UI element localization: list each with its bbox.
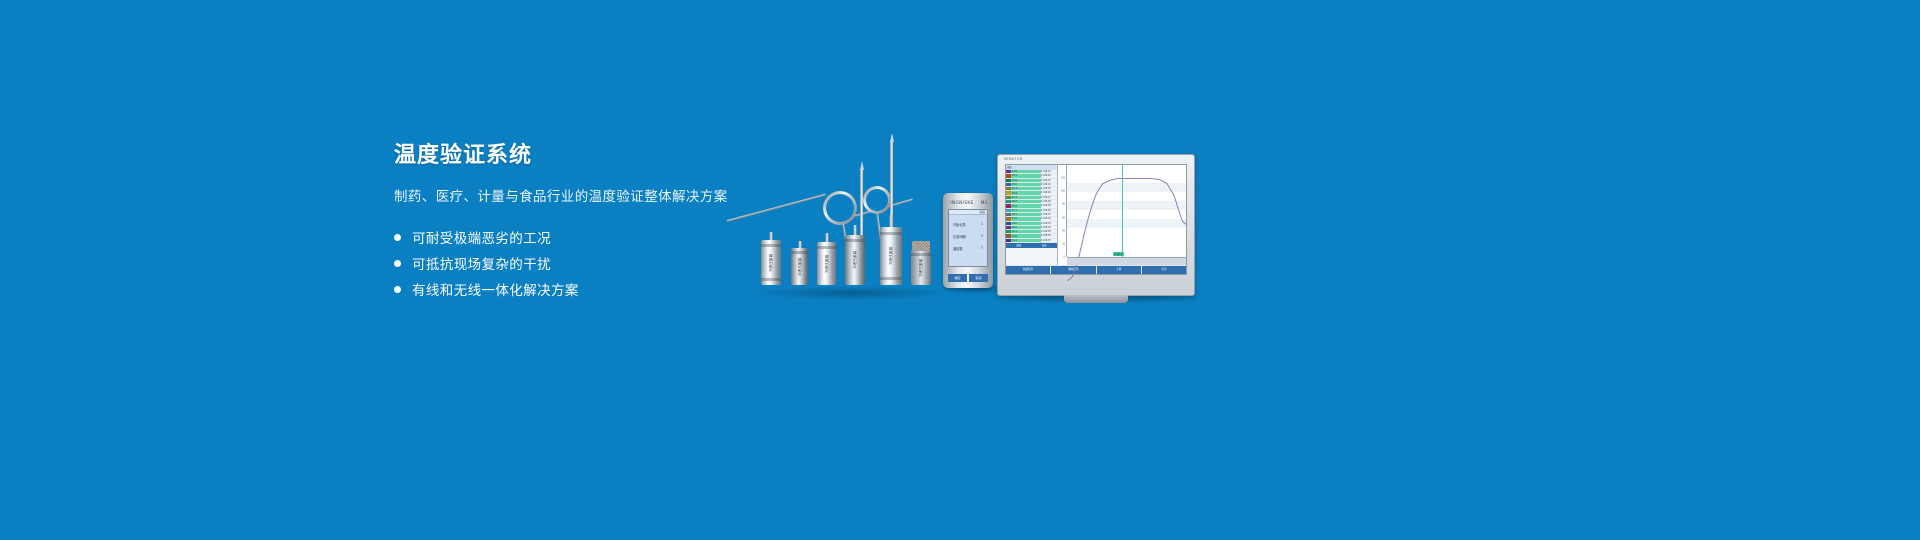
reader-cancel-button[interactable]: 取消: [969, 274, 988, 282]
reader-button-bar: 确定 取消: [948, 274, 988, 282]
monitor-stand: [1064, 295, 1128, 303]
channel-value: 25.0: [1011, 183, 1041, 186]
logger-band: [845, 239, 865, 242]
channel-table-body: 23.811:06:2124.111:06:2224.611:06:2325.0…: [1006, 170, 1057, 243]
reader-row: 开始记录 1: [949, 222, 987, 227]
logger-body: 数据记录仪: [845, 235, 865, 285]
logger-label: 数据记录仪: [853, 251, 858, 269]
shadow: [753, 286, 953, 300]
channel-value: 25.4: [1011, 187, 1041, 190]
channel-value: 30.6: [1011, 235, 1041, 238]
channel-timestamp: 11:06:23: [1041, 179, 1057, 182]
chart-y-tick: 120: [1061, 177, 1065, 180]
channel-timestamp: 11:06:31: [1041, 213, 1057, 216]
reader-row-label: 开始记录: [953, 222, 966, 227]
channel-value: 29.0: [1011, 222, 1041, 225]
bullet-label: 可抵抗现场复杂的干扰: [412, 253, 551, 273]
channel-footer-col-2: 温度: [1032, 243, 1058, 248]
logger-band: [761, 244, 781, 247]
channel-table[interactable]: 通道 23.811:06:2124.111:06:2224.611:06:232…: [1006, 165, 1058, 265]
chart-y-tick: 40: [1062, 229, 1065, 232]
channel-timestamp: 11:06:21: [1041, 170, 1057, 173]
reader-screen-title: 读取: [949, 210, 987, 215]
logger-band: [791, 251, 808, 254]
chart-y-tick: 80: [1062, 203, 1065, 206]
channel-timestamp: 11:06:34: [1041, 226, 1057, 229]
list-item: 数据记录仪: [761, 240, 781, 285]
reader-row: 通道数 7: [949, 246, 987, 251]
channel-value: 27.7: [1011, 209, 1041, 212]
channel-value: 29.5: [1011, 226, 1041, 229]
channel-timestamp: 11:06:25: [1041, 187, 1057, 190]
chart-plot-area: [1067, 165, 1186, 284]
software-screen: 通道 23.811:06:2124.111:06:2224.611:06:232…: [1005, 164, 1187, 275]
toolbar-new-task-button[interactable]: 新建任务: [1006, 266, 1050, 274]
channel-value: 23.8: [1011, 170, 1041, 173]
logger-band: [911, 253, 931, 256]
channel-timestamp: 11:06:35: [1041, 230, 1057, 233]
logger-stem-icon: [770, 232, 773, 240]
reader-row-label: 记录间隔: [953, 234, 966, 239]
chart-marker-label: 保温开始: [1113, 252, 1124, 256]
coiled-wire-probe-1-lead: [727, 194, 826, 222]
logger-stem-icon: [825, 233, 828, 242]
bullet-dot-icon: [394, 260, 401, 267]
logger-body: 数据记录仪: [911, 250, 931, 285]
logger-band: [880, 232, 902, 235]
chart-cursor[interactable]: [1122, 165, 1123, 257]
logger-body: 数据记录仪: [761, 240, 781, 285]
channel-timestamp: 11:06:30: [1041, 209, 1057, 212]
list-item: 数据记录仪: [880, 227, 902, 285]
coiled-wire-probe-2: [863, 186, 891, 214]
channel-timestamp: 11:06:32: [1041, 217, 1057, 220]
reader-row-value: 5: [981, 234, 983, 239]
logger-label: 数据记录仪: [824, 255, 829, 273]
chart-x-axis: ········································: [1067, 257, 1186, 265]
channel-value: 26.3: [1011, 196, 1041, 199]
channel-timestamp: 11:06:24: [1041, 183, 1057, 186]
logger-body: 数据记录仪: [817, 242, 836, 285]
logger-stem-icon: [854, 225, 857, 235]
channel-timestamp: 11:06:22: [1041, 174, 1057, 177]
channel-value: 30.1: [1011, 230, 1041, 233]
channel-timestamp: 11:06:27: [1041, 196, 1057, 199]
list-item: 数据记录仪: [817, 242, 836, 285]
reader-screen: 读取 开始记录 1 记录间隔 5 通道数 7: [948, 209, 988, 267]
chart-x-tick: ·: [1183, 264, 1186, 265]
logger-stem-icon: [798, 241, 801, 248]
temperature-chart[interactable]: 020406080100120 保温开始 ···················…: [1058, 165, 1186, 265]
monitor-display: MONITOR 通道 23.811:06:2124.111:06:2224.61…: [997, 154, 1195, 296]
chart-y-tick: 100: [1061, 190, 1065, 193]
channel-value: 31.2: [1011, 239, 1041, 242]
channel-value: 26.8: [1011, 200, 1041, 203]
logger-band: [761, 278, 781, 281]
channel-footer-col-1: 通道: [1006, 243, 1032, 248]
chart-y-axis: 020406080100120: [1058, 165, 1067, 257]
bullet-label: 有线和无线一体化解决方案: [412, 279, 579, 299]
logger-label: 数据记录仪: [889, 247, 894, 265]
channel-timestamp: 11:06:29: [1041, 204, 1057, 207]
logger-label: 数据记录仪: [797, 258, 802, 276]
channel-table-footer: 通道 温度: [1006, 243, 1057, 248]
logger-stem-icon: [890, 215, 893, 227]
reader-model-text: M1: [981, 200, 988, 205]
logger-band: [880, 277, 902, 280]
reader-brand-label: INGNISKE M1: [943, 200, 993, 205]
channel-timestamp: 11:06:33: [1041, 222, 1057, 225]
chart-y-tick: 0: [1064, 256, 1065, 259]
reader-row: 记录间隔 5: [949, 234, 987, 239]
screen-top-area: 通道 23.811:06:2124.111:06:2224.611:06:232…: [1006, 165, 1186, 265]
logger-body: 数据记录仪: [880, 227, 902, 285]
bullet-dot-icon: [394, 286, 401, 293]
chart-y-tick: 20: [1062, 242, 1065, 245]
list-item: 数据记录仪: [845, 235, 865, 285]
channel-value: 27.2: [1011, 205, 1041, 208]
bullet-dot-icon: [394, 234, 401, 241]
channel-value: 28.6: [1011, 217, 1041, 220]
list-item: 数据记录仪: [791, 248, 808, 285]
logger-label: 数据记录仪: [919, 259, 924, 277]
channel-timestamp: 11:06:26: [1041, 191, 1057, 194]
bullet-label: 可耐受极端恶劣的工况: [412, 227, 551, 247]
logger-sinter-cap: [912, 241, 930, 251]
channel-timestamp: 11:06:37: [1041, 239, 1057, 242]
reader-row-value: 1: [981, 222, 983, 227]
hero-banner: 温度验证系统 制药、医疗、计量与食品行业的温度验证整体解决方案 可耐受极端恶劣的…: [0, 0, 1920, 540]
list-item: 数据记录仪: [911, 250, 931, 285]
logger-band: [817, 246, 836, 249]
channel-value: 25.9: [1011, 192, 1041, 195]
product-photo-group: 数据记录仪 数据记录仪 数据记录仪 数据记录仪: [715, 120, 1215, 305]
monitor-brand-label: MONITOR: [1004, 157, 1022, 161]
channel-value: 24.6: [1011, 179, 1041, 182]
reader-brand-text: INGNISKE: [950, 200, 973, 205]
chart-y-tick: 60: [1062, 216, 1065, 219]
channel-value: 28.1: [1011, 213, 1041, 216]
coiled-wire-probe-1: [823, 191, 857, 225]
reader-row-label: 通道数: [953, 246, 963, 251]
reader-row-value: 7: [981, 246, 983, 251]
handheld-reader[interactable]: INGNISKE M1 读取 开始记录 1 记录间隔 5 通道数 7: [943, 193, 993, 288]
reader-confirm-button[interactable]: 确定: [948, 274, 967, 282]
channel-value: 24.1: [1011, 174, 1041, 177]
logger-label: 数据记录仪: [769, 254, 774, 272]
logger-body: 数据记录仪: [791, 248, 808, 285]
channel-timestamp: 11:06:36: [1041, 234, 1057, 237]
chart-series-line: [1067, 179, 1186, 281]
channel-timestamp: 11:06:28: [1041, 200, 1057, 203]
